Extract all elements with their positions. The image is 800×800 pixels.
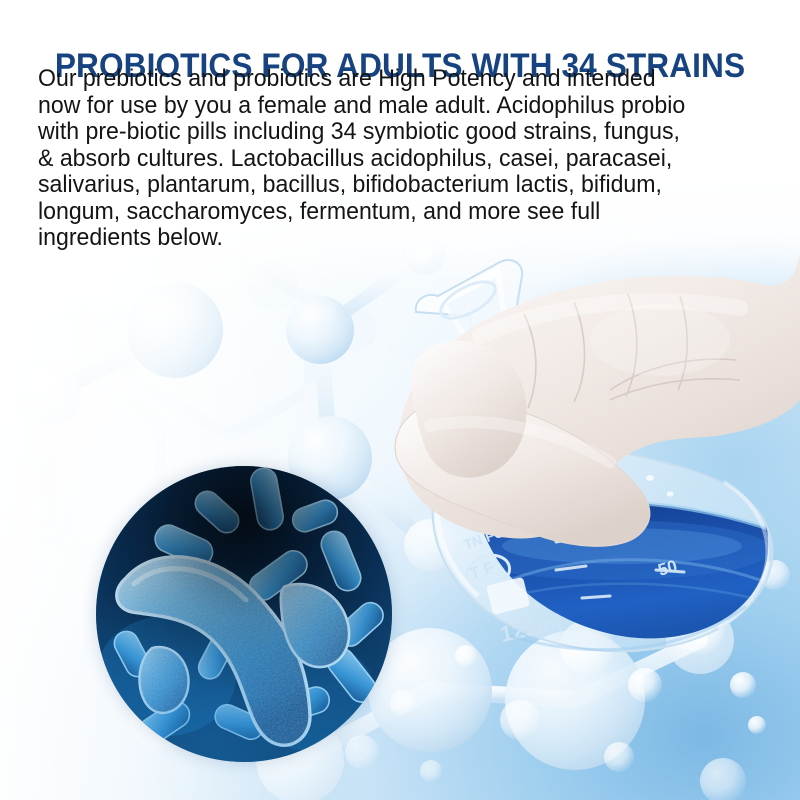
gloved-hand-holding-flask: 100 50 25 approx TN FONG T F 125ml — [360, 250, 800, 730]
description-line: salivarius, plantarum, bacillus, bifidob… — [38, 172, 741, 199]
bacteria-micrograph-circle — [96, 466, 392, 762]
description-line: ingredients below. — [38, 225, 741, 252]
micrograph-vignette — [96, 466, 392, 762]
description-line: Our prebiotics and probiotics are High P… — [38, 66, 741, 93]
description-line: & absorb cultures. Lactobacillus acidoph… — [38, 146, 741, 173]
product-infographic: 100 50 25 approx TN FONG T F 125ml — [0, 0, 800, 800]
description-line: with pre-biotic pills including 34 symbi… — [38, 119, 741, 146]
description-line: now for use by you a female and male adu… — [38, 93, 741, 120]
description-paragraph: Our prebiotics and probiotics are High P… — [38, 66, 741, 252]
description-line: longum, saccharomyces, fermentum, and mo… — [38, 199, 741, 226]
